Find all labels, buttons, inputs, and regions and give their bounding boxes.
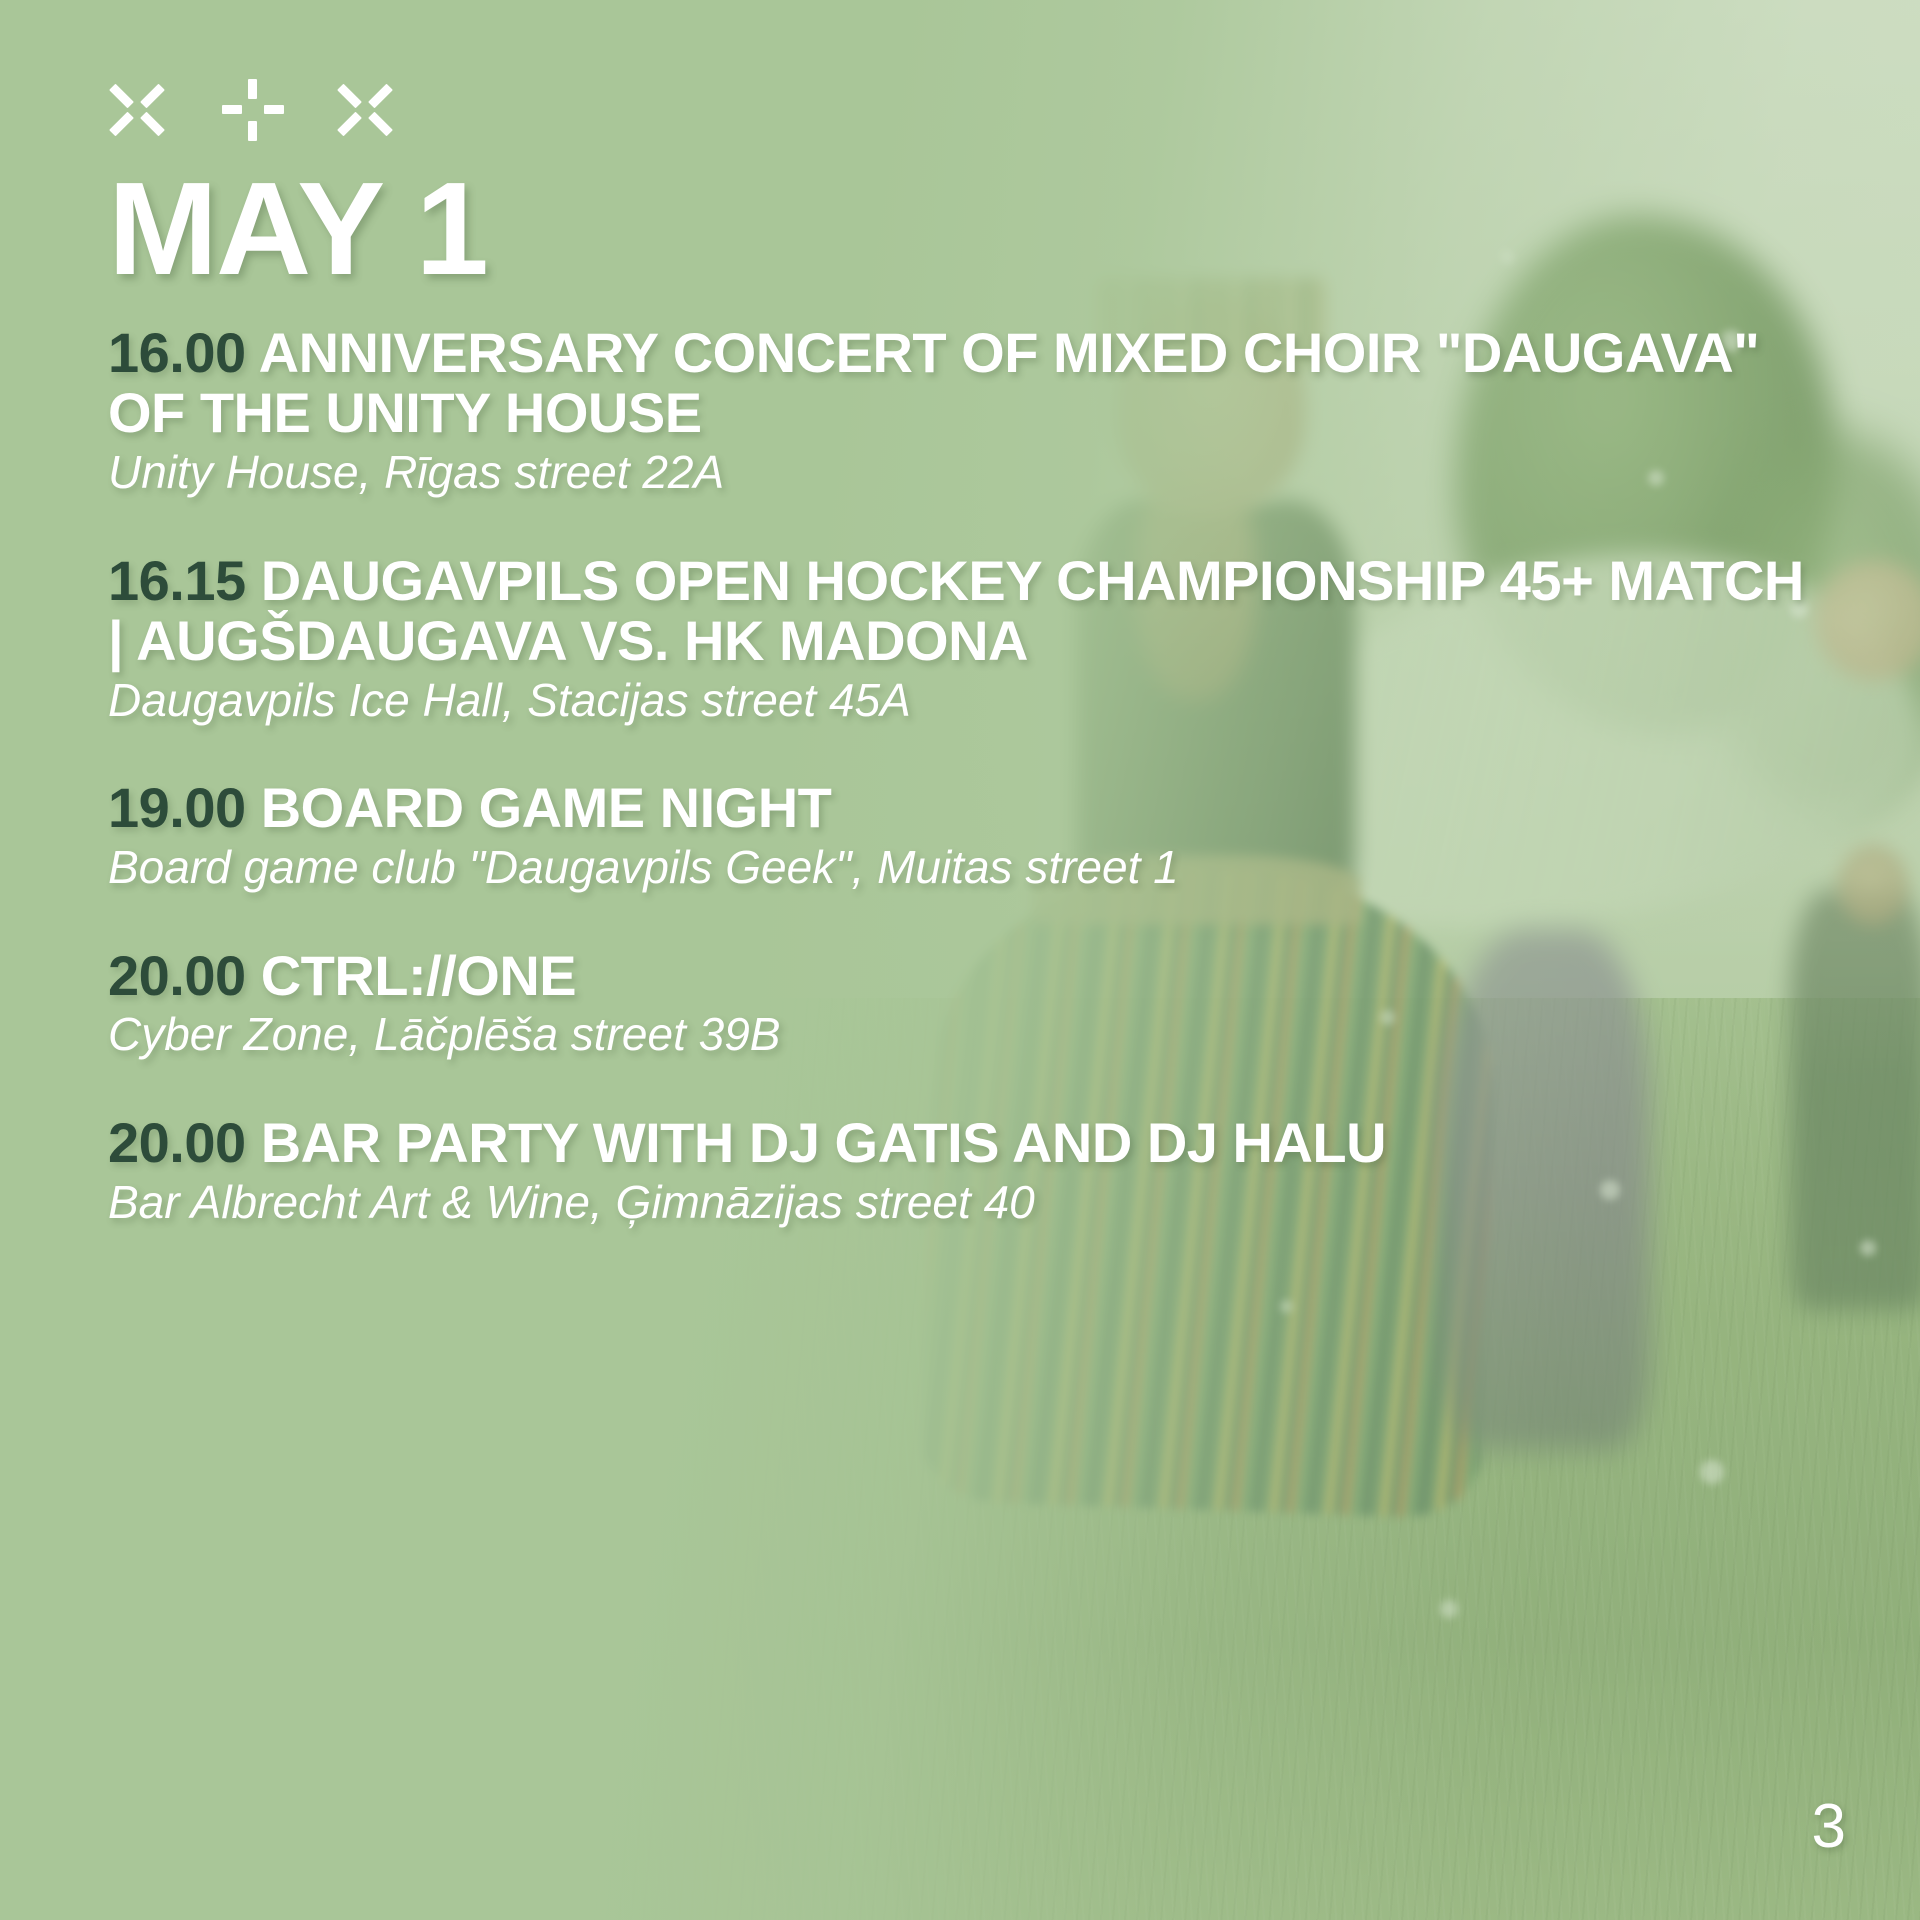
list-item: 20.00 BAR PARTY WITH DJ GATIS AND DJ HAL… xyxy=(108,1113,1808,1228)
event-title-line: 16.15 DAUGAVPILS OPEN HOCKEY CHAMPIONSHI… xyxy=(108,551,1808,671)
event-poster: MAY 1 16.00 ANNIVERSARY CONCERT OF MIXED… xyxy=(0,0,1920,1920)
event-title-line: 16.00 ANNIVERSARY CONCERT OF MIXED CHOIR… xyxy=(108,323,1808,443)
event-venue: Unity House, Rīgas street 22A xyxy=(108,447,1808,499)
sparkle-plus-icon xyxy=(222,79,284,141)
list-item: 20.00 CTRL://ONE Cyber Zone, Lāčplēša st… xyxy=(108,946,1808,1061)
event-name: DAUGAVPILS OPEN HOCKEY CHAMPIONSHIP 45+ … xyxy=(108,549,1804,672)
sparkle-x-icon xyxy=(108,79,170,141)
event-venue: Cyber Zone, Lāčplēša street 39B xyxy=(108,1009,1808,1061)
event-time: 16.00 xyxy=(108,321,246,384)
event-time: 19.00 xyxy=(108,776,246,839)
event-time: 20.00 xyxy=(108,1111,246,1174)
event-name: BAR PARTY WITH DJ GATIS AND DJ HALU xyxy=(261,1111,1386,1174)
event-time: 16.15 xyxy=(108,549,246,612)
event-name: CTRL://ONE xyxy=(261,944,576,1007)
page-title: MAY 1 xyxy=(108,168,1920,289)
event-venue: Bar Albrecht Art & Wine, Ģimnāzijas stre… xyxy=(108,1177,1808,1229)
event-venue: Board game club "Daugavpils Geek", Muita… xyxy=(108,842,1808,894)
event-title-line: 20.00 CTRL://ONE xyxy=(108,946,1808,1006)
poster-content: MAY 1 16.00 ANNIVERSARY CONCERT OF MIXED… xyxy=(0,0,1920,1920)
event-time: 20.00 xyxy=(108,944,246,1007)
sparkle-x-icon xyxy=(336,79,398,141)
event-title-line: 20.00 BAR PARTY WITH DJ GATIS AND DJ HAL… xyxy=(108,1113,1808,1173)
list-item: 16.15 DAUGAVPILS OPEN HOCKEY CHAMPIONSHI… xyxy=(108,551,1808,726)
event-name: BOARD GAME NIGHT xyxy=(261,776,832,839)
list-item: 19.00 BOARD GAME NIGHT Board game club "… xyxy=(108,778,1808,893)
decorative-sparkle-row xyxy=(108,78,1920,142)
page-number: 3 xyxy=(1812,1796,1846,1858)
event-name: ANNIVERSARY CONCERT OF MIXED CHOIR "DAUG… xyxy=(108,321,1759,444)
event-venue: Daugavpils Ice Hall, Stacijas street 45A xyxy=(108,675,1808,727)
list-item: 16.00 ANNIVERSARY CONCERT OF MIXED CHOIR… xyxy=(108,323,1808,498)
event-title-line: 19.00 BOARD GAME NIGHT xyxy=(108,778,1808,838)
event-list: 16.00 ANNIVERSARY CONCERT OF MIXED CHOIR… xyxy=(108,323,1808,1228)
